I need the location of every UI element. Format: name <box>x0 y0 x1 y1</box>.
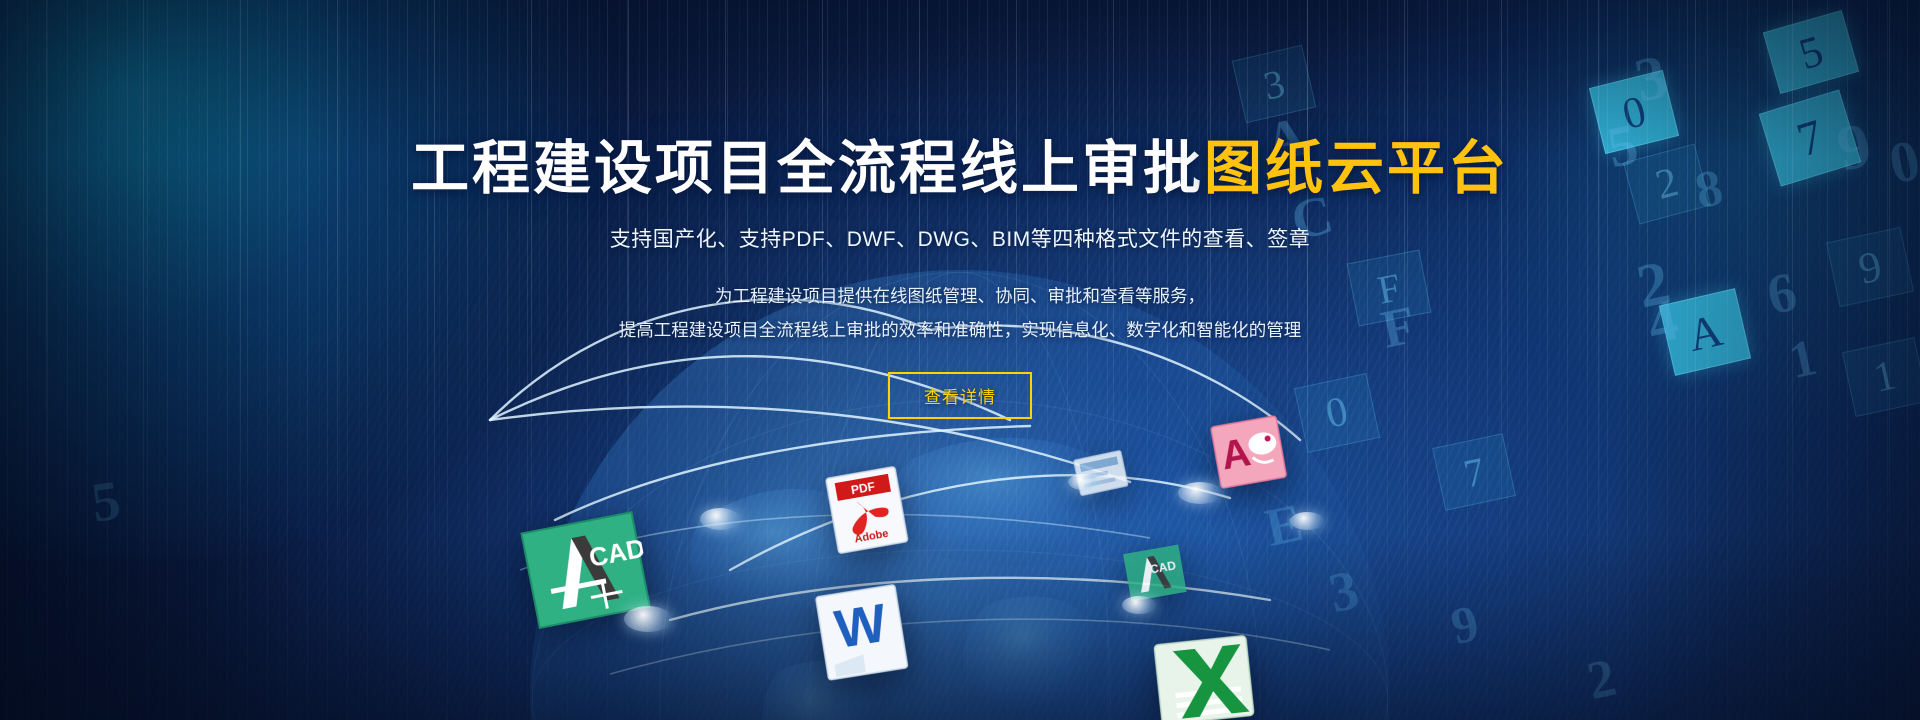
view-details-button[interactable]: 查看详情 <box>888 372 1032 419</box>
description-line-2: 提高工程建设项目全流程线上审批的效率和准确性，实现信息化、数字化和智能化的管理 <box>0 315 1920 346</box>
banner-subtitle: 支持国产化、支持PDF、DWF、DWG、BIM等四种格式文件的查看、签章 <box>0 223 1920 253</box>
word-file-icon[interactable]: W <box>809 579 919 689</box>
pdf-file-icon[interactable]: PDF Adobe <box>821 464 912 558</box>
cta-row: 查看详情 <box>0 372 1920 419</box>
autocad-file-icon[interactable]: CAD <box>517 508 655 637</box>
headline-main-text: 工程建设项目全流程线上审批 <box>411 136 1204 201</box>
page-title: 工程建设项目全流程线上审批图纸云平台 <box>0 0 1920 201</box>
access-file-icon[interactable]: A <box>1206 412 1291 496</box>
banner-content: 工程建设项目全流程线上审批图纸云平台 支持国产化、支持PDF、DWF、DWG、B… <box>0 0 1920 419</box>
cad-small-file-icon[interactable]: CAD <box>1120 541 1191 607</box>
excel-file-icon[interactable] <box>1145 625 1265 720</box>
hero-banner: 0 7 2 5 A 9 1 3 F 0 7 3 5 9 0 8 2 4 6 1 … <box>0 0 1920 720</box>
banner-description: 为工程建设项目提供在线图纸管理、协同、审批和查看等服务， 提高工程建设项目全流程… <box>0 281 1920 346</box>
headline-accent-text: 图纸云平台 <box>1204 136 1509 201</box>
description-line-1: 为工程建设项目提供在线图纸管理、协同、审批和查看等服务， <box>0 281 1920 312</box>
svg-text:W: W <box>831 593 891 660</box>
